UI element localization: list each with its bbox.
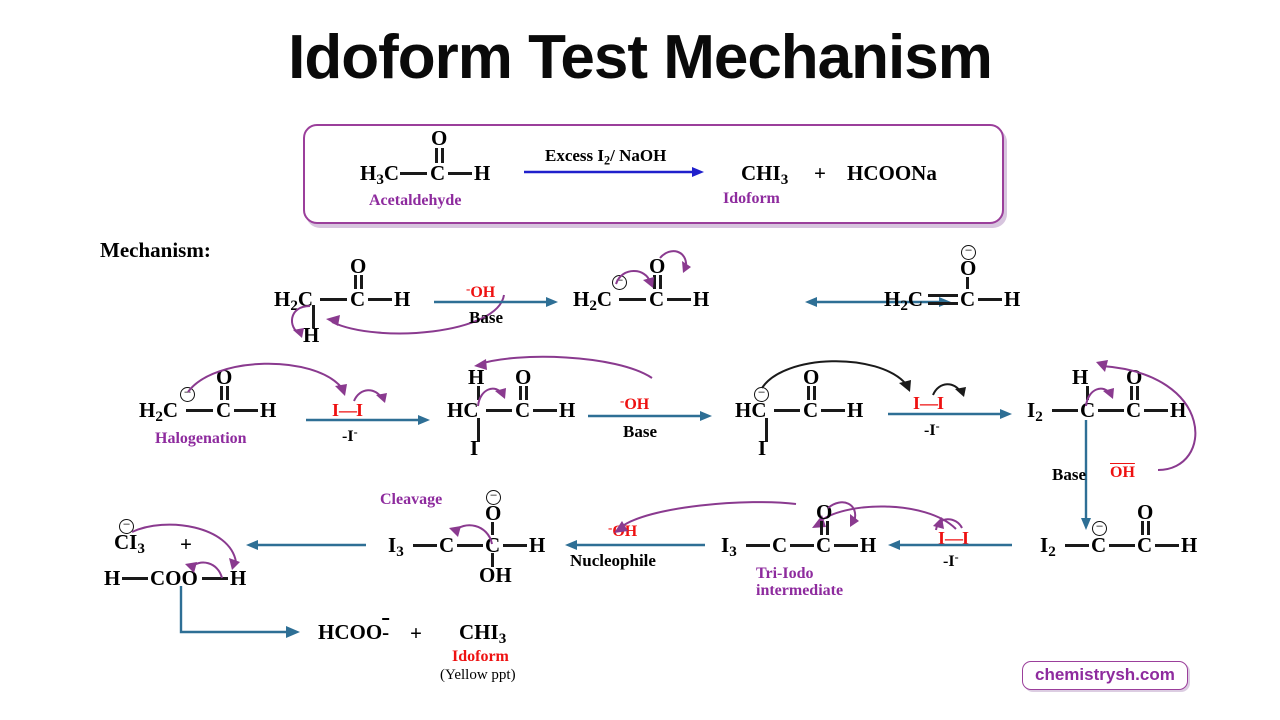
final-iodoform-name: Idoform	[452, 648, 509, 666]
curly-arrow-cleavage	[444, 520, 500, 552]
row3-step1-dbl-left	[1141, 521, 1144, 535]
row2-reagent1-leaving: -I-	[342, 425, 358, 446]
curly-arrow-carbanion2-to-i2	[758, 360, 918, 406]
product-sodium-formate: HCOONa	[847, 163, 937, 184]
row1-step3-oxygen-charge	[961, 245, 976, 260]
row2-step1-carbanion: H2C	[139, 400, 178, 425]
row3-step1-diiodo: I2	[1040, 535, 1056, 560]
row3-step1-bond3	[1155, 544, 1179, 547]
row2-step3-bond2	[821, 409, 845, 412]
row3-step3-hydrogen: H	[529, 535, 545, 556]
row1-step3-carbon: C	[960, 289, 975, 310]
reactant-oxygen: O	[431, 128, 447, 149]
row1-step2-bond2	[667, 298, 691, 301]
curly-arrow-i-i-bond-2	[929, 379, 969, 401]
row3-step4-formic-h: H	[104, 568, 120, 589]
row2-reagent2-base-label: Base	[623, 422, 657, 442]
reactant-aldehyde-h: H	[474, 163, 490, 184]
page-title: Idoform Test Mechanism	[0, 22, 1280, 93]
row2-step3-iodine: I	[758, 438, 766, 459]
row1-step2-carbanion: H2C	[573, 289, 612, 314]
curly-arrow-oh-bond-break	[180, 556, 228, 584]
row2-step2-hc: HC	[447, 400, 479, 421]
row2-reagent3-leaving: -I-	[924, 419, 940, 440]
product-iodoform-formula: CHI3	[741, 163, 788, 188]
curly-arrow-base-to-h-row2	[466, 358, 656, 388]
row2-step4-bond1	[1052, 409, 1078, 412]
row3-step3-triiodo: I3	[388, 535, 404, 560]
row3-step3-bond1	[413, 544, 437, 547]
final-elbow-arrow	[178, 586, 300, 642]
row1-step1-oxygen: O	[350, 256, 366, 277]
final-plus: +	[410, 623, 422, 644]
row1-step2-aldehyde-h: H	[693, 289, 709, 310]
row1-step3-co-bond	[966, 277, 969, 289]
bond-methyl-carbonyl	[400, 172, 427, 175]
row3-step1-aldehyde-h: H	[1181, 535, 1197, 556]
curly-arrow-i-i-bond	[350, 385, 390, 407]
product-plus-sign: +	[814, 163, 826, 184]
row3-reagent1-leaving: -I-	[943, 550, 959, 571]
row2-step2-carbonyl: C	[515, 400, 530, 421]
bond-carbonyl-h	[448, 172, 472, 175]
row3-step2-aldehyde-h: H	[860, 535, 876, 556]
row2-step2-dbl-left	[519, 386, 522, 400]
row2-down-hydroxide-label: OH	[1110, 464, 1135, 482]
reactant-name: Acetaldehyde	[369, 192, 461, 209]
row1-step3-hydrogen: H	[1004, 289, 1020, 310]
mechanism-heading: Mechanism:	[100, 238, 211, 263]
curly-arrow-ch-bond	[280, 300, 320, 342]
final-iodoform-formula: CHI3	[459, 622, 506, 647]
row1-reagent-base-label: Base	[469, 308, 503, 328]
double-bond-left	[435, 148, 438, 163]
double-bond-right	[441, 148, 444, 163]
row2-step2-bond2	[533, 409, 557, 412]
row3-step3-oxygen-charge	[486, 490, 501, 505]
row3-step1-carbonyl: C	[1137, 535, 1152, 556]
row2-step2-dbl-right	[525, 386, 528, 400]
row3-step1-bond2	[1109, 544, 1135, 547]
final-formate: HCOO-	[318, 622, 389, 643]
row3-step1-dbl-right	[1147, 521, 1150, 535]
row1-step3-oxygen: O	[960, 258, 976, 279]
row2-step2-aldehyde-h: H	[559, 400, 575, 421]
row1-step3-enolate-ch2: H2C	[884, 289, 923, 314]
product-name: Idoform	[723, 190, 780, 207]
row3-step1-oxygen: O	[1137, 502, 1153, 523]
row1-step1-dbl-left	[354, 275, 357, 289]
final-yellow-ppt-note: (Yellow ppt)	[440, 667, 516, 684]
row1-step3-dblbond-top	[928, 294, 958, 297]
tri-iodo-intermediate-label: Tri-Iodointermediate	[756, 565, 843, 600]
row2-arrow-1	[306, 414, 430, 428]
curly-arrow-carbanion-to-i2	[184, 362, 354, 412]
curly-arrow-base-loop-row2	[1078, 358, 1218, 480]
row2-step3-bond1	[774, 409, 800, 412]
row3-step1-negative-charge	[1092, 521, 1107, 536]
row3-step3-bond3	[503, 544, 527, 547]
curly-arrow-lonepair-to-cc	[612, 268, 656, 302]
row2-step4-diiodo: I2	[1027, 400, 1043, 425]
reactant-carbonyl-carbon: C	[430, 163, 445, 184]
row3-step1-carbanion-carbon: C	[1091, 535, 1106, 556]
row3-step2-bond3	[834, 544, 858, 547]
row3-step2-bond1	[746, 544, 770, 547]
row2-down-base-label: Base	[1052, 465, 1086, 485]
halogenation-label: Halogenation	[155, 430, 247, 447]
row3-step3-hydroxyl: OH	[479, 565, 512, 586]
row2-step2-iodine: I	[470, 438, 478, 459]
row1-step3-dblbond-bottom	[928, 302, 958, 305]
row3-step2-bond2	[790, 544, 814, 547]
reactant-methyl: H3C	[360, 163, 399, 188]
curly-arrow-hydroxide-attack	[600, 500, 800, 544]
row3-arrow-3-leftward	[246, 539, 366, 553]
row1-step1-dbl-right	[360, 275, 363, 289]
row3-step2-carbonyl: C	[816, 535, 831, 556]
row1-step3-bond2	[978, 298, 1002, 301]
cleavage-label: Cleavage	[380, 491, 442, 508]
row3-step1-bond1	[1065, 544, 1089, 547]
row2-arrow-3	[888, 408, 1012, 422]
site-watermark: chemistrysh.com	[1022, 661, 1188, 690]
row3-reagent2-nucleophile-label: Nucleophile	[570, 551, 656, 571]
curly-arrow-pi-to-oxygen	[654, 248, 694, 280]
main-reaction-arrow	[524, 164, 704, 180]
curly-arrow-carbonyl-pi-row3	[820, 498, 864, 534]
